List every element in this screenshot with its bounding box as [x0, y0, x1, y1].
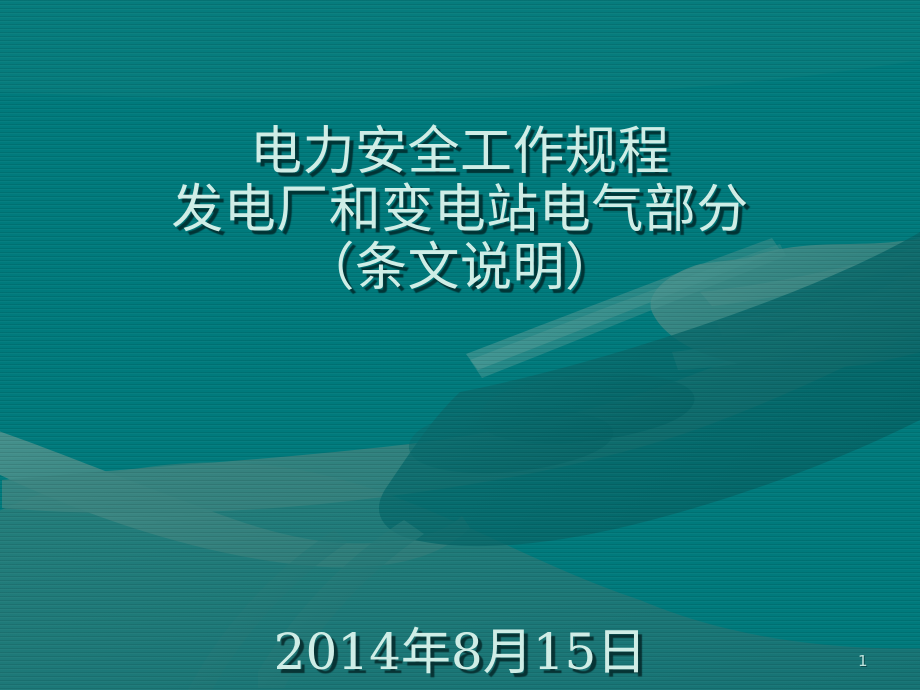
title-line-2: 发电厂和变电站电气部分 — [0, 184, 920, 236]
title-line-1: 电力安全工作规程 — [0, 126, 920, 178]
slide-number: 1 — [858, 652, 882, 670]
background-artwork — [0, 0, 920, 690]
slide-title: 电力安全工作规程 发电厂和变电站电气部分 （条文说明） — [0, 126, 920, 300]
title-line-3: （条文说明） — [0, 242, 920, 294]
presentation-slide: 电力安全工作规程 发电厂和变电站电气部分 （条文说明） 2014年8月15日 1 — [0, 0, 920, 690]
slide-date: 2014年8月15日 — [0, 612, 920, 684]
date-text: 2014年8月15日 — [274, 623, 647, 681]
